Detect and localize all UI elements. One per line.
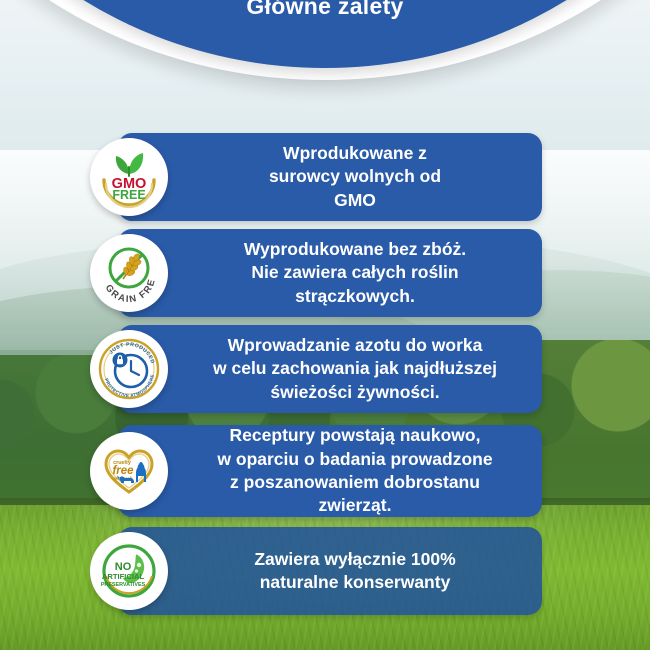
svg-text:FREE: FREE bbox=[112, 188, 145, 202]
benefit-text: Receptury powstają naukowo, w oparciu o … bbox=[118, 424, 542, 517]
benefit-text: Wprodukowane z surowcy wolnych od GMO bbox=[193, 142, 467, 212]
benefit-row-no-preservatives: Zawiera wyłącznie 100% naturalne konserw… bbox=[118, 527, 542, 615]
gmo-free-icon: GMO FREE bbox=[92, 140, 166, 214]
benefit-text: Wprowadzanie azotu do worka w celu zacho… bbox=[137, 334, 523, 404]
benefit-row-gmo-free: Wprodukowane z surowcy wolnych od GMO bbox=[118, 133, 542, 221]
no-artificial-preservatives-badge: NO ARTIFICIAL PRESERVATIVES bbox=[90, 532, 168, 610]
svg-text:ARTIFICIAL: ARTIFICIAL bbox=[102, 572, 145, 581]
clock-lock-freshness-icon: JUST PRODUCED PROTECTIVE ATMOSPHERE FRES… bbox=[92, 332, 166, 406]
grain-free-icon: GRAIN FREE bbox=[92, 236, 166, 310]
no-artificial-preservatives-icon: NO ARTIFICIAL PRESERVATIVES bbox=[92, 534, 166, 608]
just-produced-freshness-badge: JUST PRODUCED PROTECTIVE ATMOSPHERE FRES… bbox=[90, 330, 168, 408]
cruelty-free-research-badge: cruelty free research bbox=[90, 432, 168, 510]
svg-text:PRESERVATIVES: PRESERVATIVES bbox=[101, 582, 146, 588]
benefit-text: Wyprodukowane bez zbóż. Nie zawiera cały… bbox=[168, 238, 492, 308]
benefit-text: Zawiera wyłącznie 100% naturalne konserw… bbox=[178, 548, 481, 595]
gmo-free-badge: GMO FREE bbox=[90, 138, 168, 216]
benefits-list: Wprodukowane z surowcy wolnych od GMO Wy… bbox=[0, 0, 650, 650]
grain-free-badge: GRAIN FREE bbox=[90, 234, 168, 312]
infographic-page: Główne zalety Wprodukowane z surowcy wol… bbox=[0, 0, 650, 650]
benefit-row-nitrogen-freshness: Wprowadzanie azotu do worka w celu zacho… bbox=[118, 325, 542, 413]
benefit-row-cruelty-free: Receptury powstają naukowo, w oparciu o … bbox=[118, 425, 542, 517]
benefit-row-grain-free: Wyprodukowane bez zbóż. Nie zawiera cały… bbox=[118, 229, 542, 317]
cruelty-free-research-icon: cruelty free research bbox=[92, 434, 166, 508]
